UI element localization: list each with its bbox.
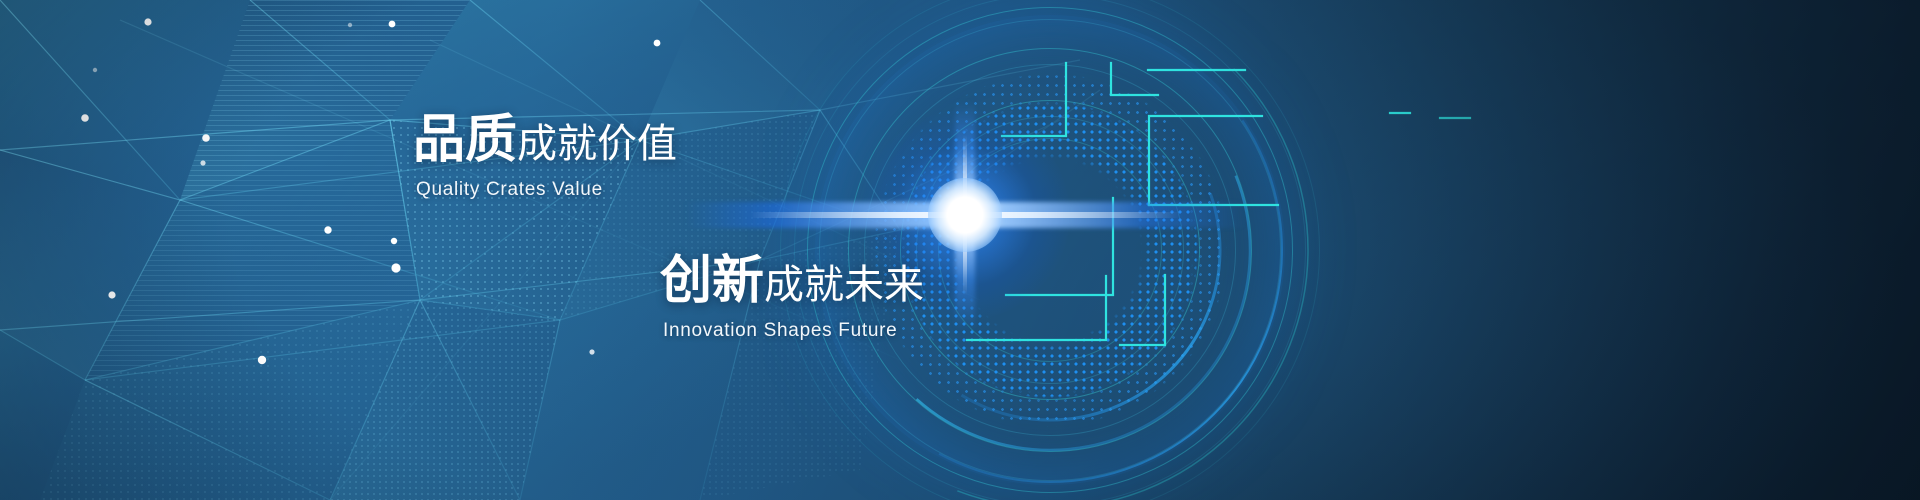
- ring-outer-glow: [815, 15, 1285, 485]
- left-network-mesh: [0, 0, 1920, 500]
- headline-innovation-english: Innovation Shapes Future: [663, 320, 924, 342]
- headline-block-quality: 品质成就价值 Quality Crates Value: [413, 114, 677, 201]
- ring-circle-5: [848, 48, 1252, 452]
- headline-quality-cn-primary: 品质: [413, 111, 517, 169]
- flare-horizontal-core: [750, 212, 1180, 218]
- trace-7: [1006, 198, 1113, 295]
- mesh-lines: [0, 0, 1100, 500]
- glowing-tech-ring: [710, 0, 1390, 500]
- cyan-circuit-traces: [0, 0, 1920, 500]
- trace-8: [967, 276, 1106, 340]
- ring-circle-2: [916, 116, 1184, 384]
- headline-quality-chinese: 品质成就价值: [413, 114, 677, 166]
- ring-circle-4: [864, 64, 1236, 436]
- hero-banner: 品质成就价值 Quality Crates Value 创新成就未来 Innov…: [0, 0, 1920, 500]
- trace-2: [1111, 63, 1158, 95]
- headline-innovation-cn-secondary: 成就未来: [764, 263, 924, 307]
- vignette-overlay: [0, 0, 1920, 500]
- ring-bright-arcs: [710, 0, 1390, 500]
- headline-block-innovation: 创新成就未来 Innovation Shapes Future: [660, 255, 924, 342]
- ring-halftone-outer: [800, 0, 1300, 500]
- headline-innovation-chinese: 创新成就未来: [660, 255, 924, 307]
- ring-halftone-inner: [840, 40, 1260, 460]
- ring-circle-3: [900, 100, 1200, 400]
- trace-4: [1149, 116, 1262, 205]
- headline-innovation-cn-primary: 创新: [660, 252, 764, 310]
- ring-circle-1: [938, 138, 1162, 362]
- headline-quality-cn-secondary: 成就价值: [517, 122, 677, 166]
- headline-quality-english: Quality Crates Value: [416, 179, 677, 201]
- flare-horizontal-beam: [685, 202, 1245, 228]
- ring-circle-7: [807, 7, 1293, 493]
- trace-9: [1120, 275, 1165, 345]
- mesh-halftone-fields: [40, 0, 900, 500]
- ring-circle-8: [794, 0, 1306, 500]
- mesh-polygons: [0, 0, 900, 500]
- ring-circle-6: [819, 19, 1281, 481]
- flare-vertical-core: [963, 135, 967, 295]
- flare-vertical-beam: [955, 100, 975, 330]
- ring-circle-9: [780, 0, 1320, 500]
- trace-1: [1002, 63, 1066, 136]
- flare-hotspot: [928, 178, 1002, 252]
